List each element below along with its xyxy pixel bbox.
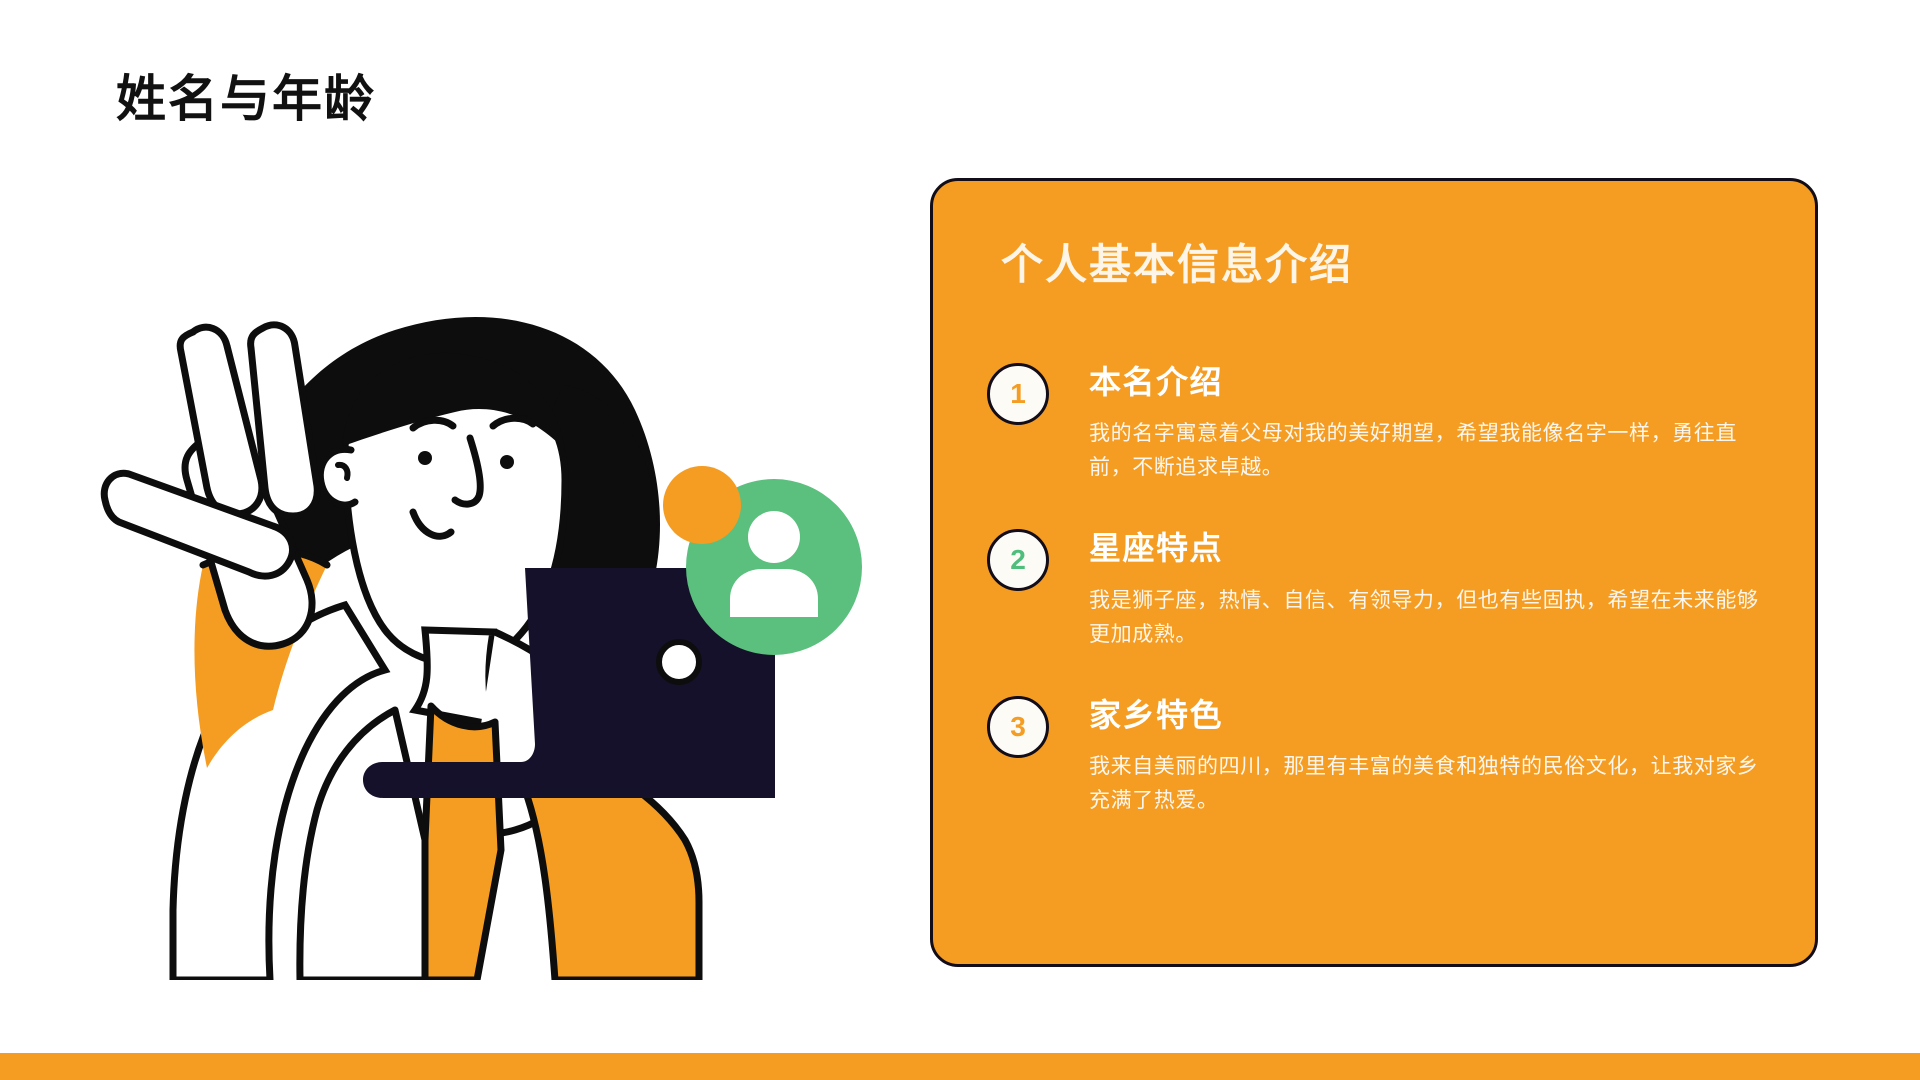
page-title: 姓名与年龄 (116, 72, 376, 127)
avatar-orange-dot (663, 466, 741, 544)
item-description: 我来自美丽的四川，那里有丰富的美食和独特的民俗文化，让我对家乡充满了热爱。 (1089, 750, 1773, 818)
item-title: 本名介绍 (1089, 363, 1773, 401)
item-title: 家乡特色 (1089, 696, 1773, 734)
personal-info-card: 个人基本信息介绍 1 本名介绍 我的名字寓意着父母对我的美好期望，希望我能像名字… (930, 178, 1818, 967)
item-number-badge: 2 (987, 529, 1049, 591)
info-item-list: 1 本名介绍 我的名字寓意着父母对我的美好期望，希望我能像名字一样，勇往直前，不… (987, 361, 1773, 818)
item-description: 我是狮子座，热情、自信、有领导力，但也有些固执，希望在未来能够更加成熟。 (1089, 584, 1773, 652)
item-content: 星座特点 我是狮子座，热情、自信、有领导力，但也有些固执，希望在未来能够更加成熟… (1089, 527, 1773, 651)
list-item[interactable]: 2 星座特点 我是狮子座，热情、自信、有领导力，但也有些固执，希望在未来能够更加… (987, 527, 1773, 651)
item-description: 我的名字寓意着父母对我的美好期望，希望我能像名字一样，勇往直前，不断追求卓越。 (1089, 417, 1773, 485)
item-number-badge: 3 (987, 696, 1049, 758)
footer-accent-bar (0, 1053, 1920, 1080)
item-title: 星座特点 (1089, 529, 1773, 567)
list-item[interactable]: 1 本名介绍 我的名字寓意着父母对我的美好期望，希望我能像名字一样，勇往直前，不… (987, 361, 1773, 485)
item-number-badge: 1 (987, 363, 1049, 425)
user-avatar-badge (662, 465, 862, 660)
list-item[interactable]: 3 家乡特色 我来自美丽的四川，那里有丰富的美食和独特的民俗文化，让我对家乡充满… (987, 694, 1773, 818)
item-content: 家乡特色 我来自美丽的四川，那里有丰富的美食和独特的民俗文化，让我对家乡充满了热… (1089, 694, 1773, 818)
card-title: 个人基本信息介绍 (1001, 231, 1353, 292)
item-content: 本名介绍 我的名字寓意着父母对我的美好期望，希望我能像名字一样，勇往直前，不断追… (1089, 361, 1773, 485)
